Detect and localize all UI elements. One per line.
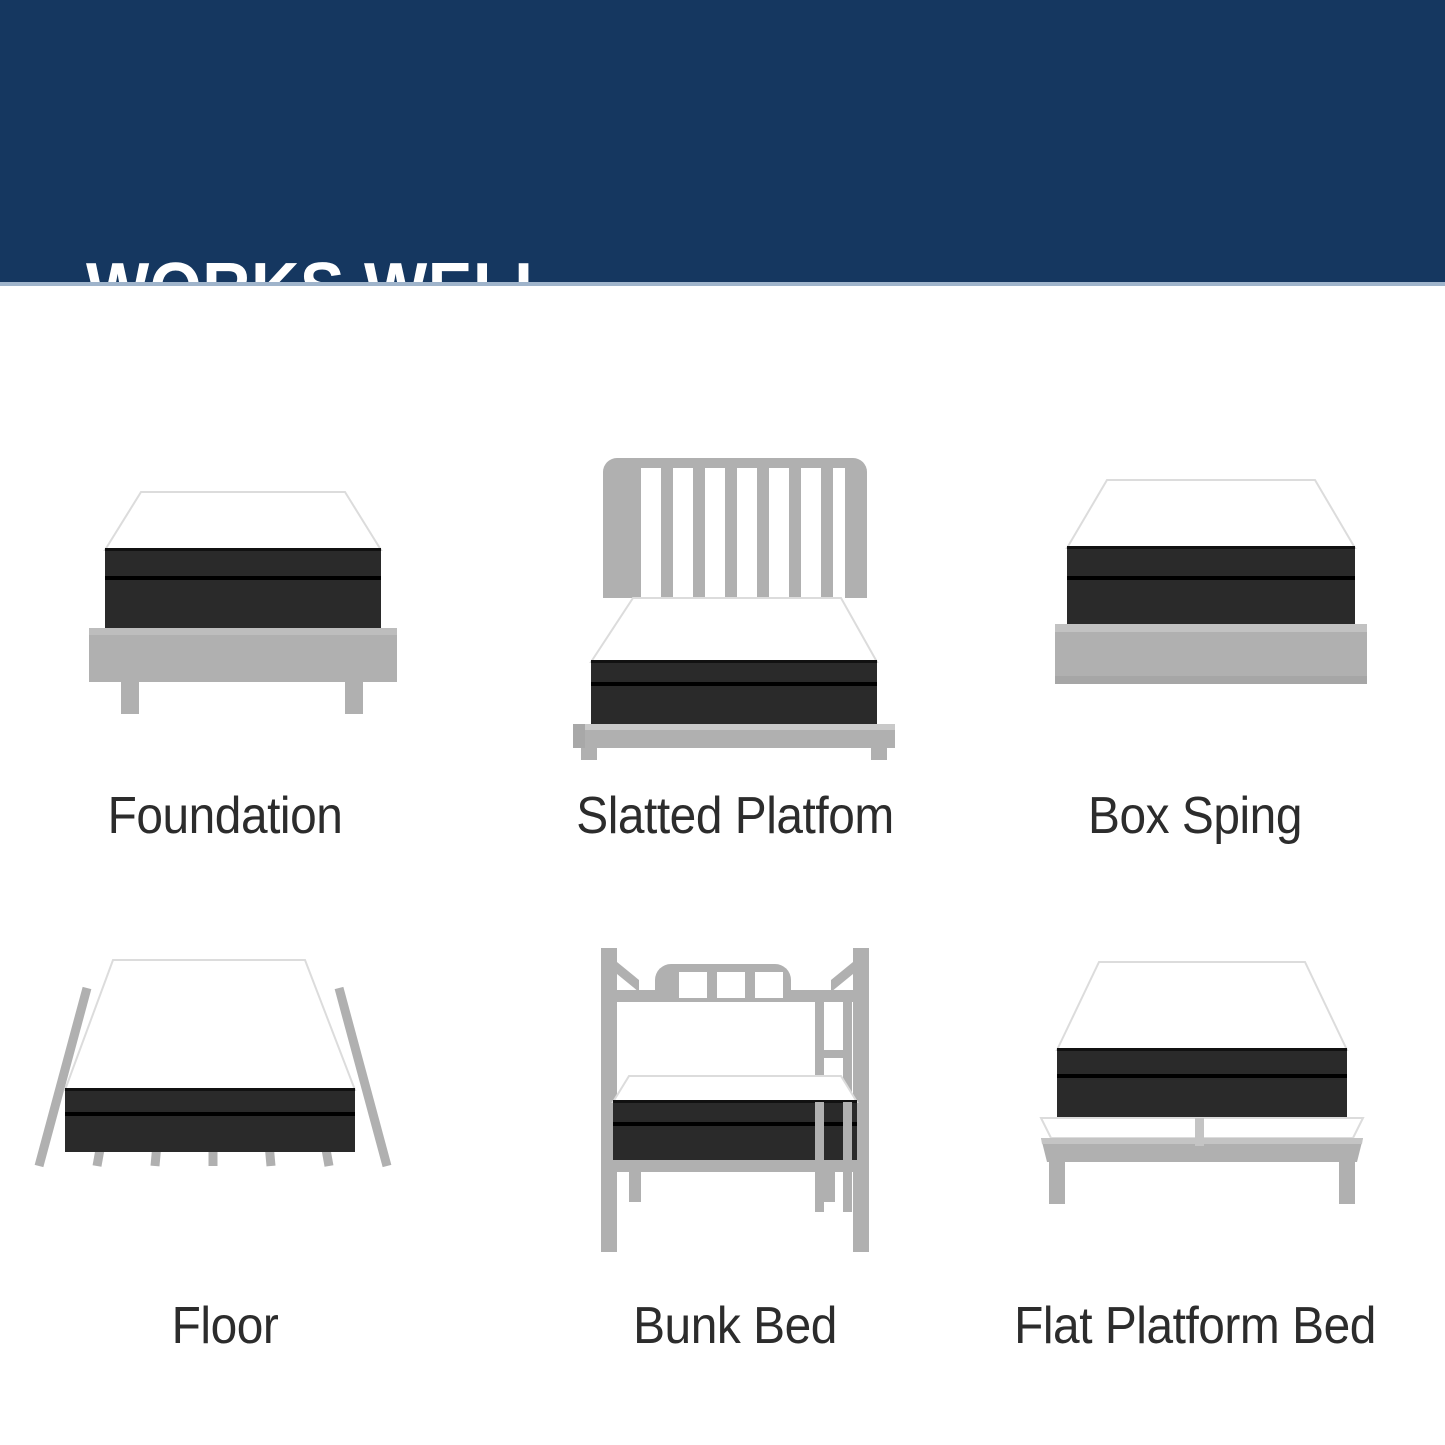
floor-icon (0, 940, 460, 1270)
base-card-flat-platform-bed[interactable]: Flat Platform Bed (960, 940, 1430, 1356)
base-label-bunk-bed: Bunk Bed (519, 1296, 951, 1356)
base-card-floor[interactable]: Floor (0, 940, 460, 1356)
box-spring-bed-icon (960, 430, 1430, 760)
base-label-slatted-platform: Slatted Platfom (519, 786, 951, 846)
bed-bases-grid: Foundation (0, 300, 1445, 1445)
base-label-floor: Floor (9, 1296, 441, 1356)
bunk-bed-icon (500, 940, 970, 1270)
base-label-flat-platform-bed: Flat Platform Bed (979, 1296, 1411, 1356)
base-card-slatted-platform[interactable]: Slatted Platfom (500, 430, 970, 846)
slatted-platform-bed-icon (500, 430, 970, 760)
base-card-foundation[interactable]: Foundation (0, 430, 460, 846)
base-label-foundation: Foundation (9, 786, 441, 846)
base-label-box-spring: Box Sping (979, 786, 1411, 846)
header-underline-divider (0, 282, 1445, 286)
flat-platform-bed-icon (960, 940, 1430, 1270)
base-card-box-spring[interactable]: Box Sping (960, 430, 1430, 846)
base-card-bunk-bed[interactable]: Bunk Bed (500, 940, 970, 1356)
foundation-bed-icon (0, 430, 460, 760)
header-banner: WORKS WELL WITH THESE BASES (0, 0, 1445, 282)
